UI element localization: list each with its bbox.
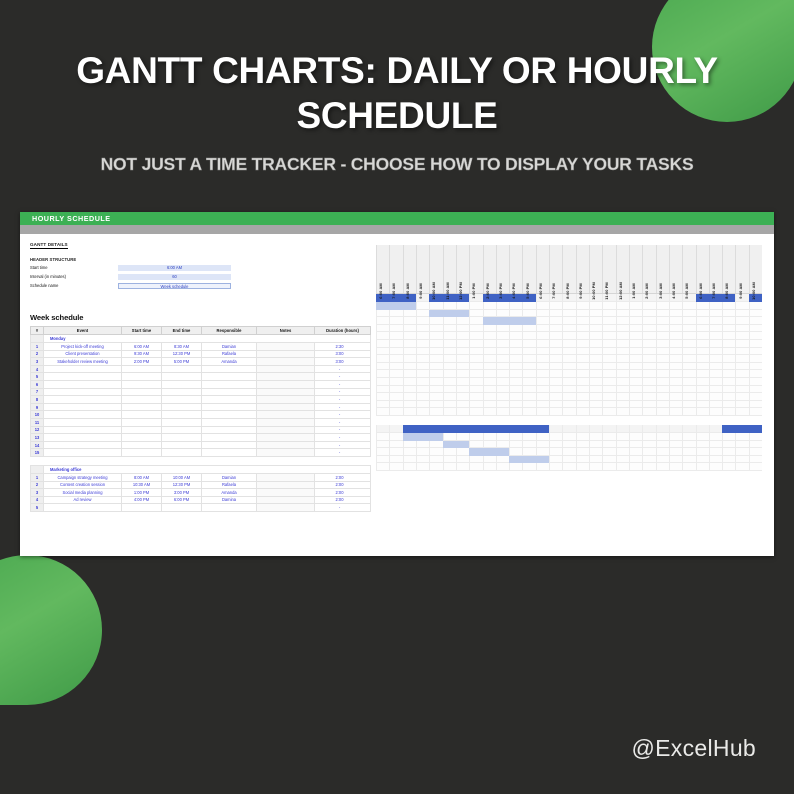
gantt-grid-cell (696, 302, 709, 310)
field-interval-input[interactable]: 60 (118, 274, 231, 281)
gantt-bar-segment (389, 425, 402, 433)
cell-start[interactable]: 8:00 AM (122, 473, 162, 481)
cell-start[interactable] (122, 388, 162, 396)
gantt-grid-cell (416, 310, 429, 318)
cell-notes[interactable] (257, 388, 315, 396)
cell-responsible[interactable]: Amanda (202, 358, 257, 366)
cell-duration[interactable]: 2:00 (315, 481, 371, 489)
cell-end[interactable] (162, 426, 202, 434)
gantt-grid-cell (456, 456, 469, 464)
gantt-grid-cell (509, 378, 522, 386)
cell-notes[interactable] (257, 481, 315, 489)
gantt-grid-cell (469, 302, 482, 310)
gantt-grid-cell (669, 302, 682, 310)
gantt-grid-cell (389, 401, 402, 409)
table-row[interactable]: 12- (31, 426, 371, 434)
group-row-label[interactable]: Marketing office (44, 465, 371, 473)
gantt-grid-cell (589, 401, 602, 409)
cell-notes[interactable] (257, 358, 315, 366)
gantt-grid-cell (403, 386, 416, 394)
field-schedule-name-input[interactable]: Week schedule (118, 283, 231, 290)
cell-duration[interactable]: - (315, 418, 371, 426)
gantt-grid-cell (376, 355, 389, 363)
table-row[interactable]: 1Project kick-off meeting6:00 AM8:30 AMD… (31, 343, 371, 351)
cell-num[interactable]: 14 (31, 441, 44, 449)
cell-notes[interactable] (257, 504, 315, 512)
gantt-grid-cell (522, 393, 535, 401)
gantt-grid-cell (602, 456, 615, 464)
cell-end[interactable] (162, 380, 202, 388)
gantt-grid-cell (682, 340, 695, 348)
cell-duration[interactable]: - (315, 388, 371, 396)
cell-duration[interactable]: - (315, 504, 371, 512)
cell-notes[interactable] (257, 449, 315, 457)
cell-event[interactable] (44, 441, 122, 449)
cell-start[interactable] (122, 365, 162, 373)
cell-event[interactable] (44, 434, 122, 442)
gantt-grid-cell (749, 340, 762, 348)
cell-end[interactable] (162, 373, 202, 381)
cell-duration[interactable]: 2:00 (315, 489, 371, 497)
gantt-grid-cell (696, 340, 709, 348)
gantt-grid-cell (656, 386, 669, 394)
gantt-axis-tick-label: 9:00 PM (578, 283, 583, 298)
gantt-grid-cell (576, 448, 589, 456)
col-header-duration[interactable]: Duration (hours) (315, 327, 371, 335)
gantt-grid-cell (496, 378, 509, 386)
gantt-grid-cell (576, 408, 589, 416)
col-header-num[interactable]: # (31, 327, 44, 335)
cell-event[interactable] (44, 388, 122, 396)
gantt-grid-cell (602, 448, 615, 456)
cell-duration[interactable]: - (315, 426, 371, 434)
cell-end[interactable]: 12:30 PM (162, 350, 202, 358)
gantt-grid-cell (522, 416, 535, 425)
gantt-grid-cell (443, 433, 456, 441)
gantt-grid-cell (376, 363, 389, 371)
gantt-grid-cell (376, 332, 389, 340)
gantt-grid-cell (642, 302, 655, 310)
cell-event[interactable] (44, 365, 122, 373)
cell-event[interactable]: Client presentation (44, 350, 122, 358)
cell-num[interactable]: 5 (31, 373, 44, 381)
table-row[interactable]: 6- (31, 380, 371, 388)
cell-responsible[interactable] (202, 380, 257, 388)
gantt-grid-cell (709, 433, 722, 441)
cell-responsible[interactable] (202, 403, 257, 411)
cell-duration[interactable]: 2:00 (315, 473, 371, 481)
gantt-grid-cell (642, 340, 655, 348)
gantt-grid-cell (549, 340, 562, 348)
gantt-grid-cell (496, 393, 509, 401)
cell-num[interactable]: 1 (31, 473, 44, 481)
cell-num[interactable]: 1 (31, 343, 44, 351)
cell-end[interactable] (162, 441, 202, 449)
gantt-grid-cell (656, 310, 669, 318)
cell-responsible[interactable] (202, 426, 257, 434)
gantt-grid-cell (416, 463, 429, 471)
gantt-grid-cell (376, 340, 389, 348)
gantt-axis-tick-label: 6:00 AM (378, 283, 383, 298)
cell-duration[interactable]: 2:30 (315, 343, 371, 351)
gantt-grid-cell (416, 456, 429, 464)
group-row-label[interactable]: Monday (44, 335, 371, 343)
cell-event[interactable] (44, 380, 122, 388)
table-row[interactable]: 9- (31, 403, 371, 411)
gantt-grid-cell (669, 441, 682, 449)
gantt-grid-cell (735, 386, 748, 394)
cell-event[interactable]: Project kick-off meeting (44, 343, 122, 351)
cell-event[interactable]: Campaign strategy meeting (44, 473, 122, 481)
cell-num[interactable]: 11 (31, 418, 44, 426)
table-title: Week schedule (30, 313, 372, 322)
cell-notes[interactable] (257, 396, 315, 404)
gantt-grid-cell (389, 325, 402, 333)
gantt-grid-cell (749, 456, 762, 464)
cell-end[interactable] (162, 449, 202, 457)
gantt-task-row (376, 302, 762, 310)
cell-duration[interactable]: 3:00 (315, 350, 371, 358)
cell-num[interactable]: 4 (31, 496, 44, 504)
gantt-grid-cell (709, 325, 722, 333)
cell-duration[interactable]: - (315, 411, 371, 419)
gantt-grid-cell (656, 456, 669, 464)
table-row[interactable]: 11- (31, 418, 371, 426)
gantt-grid-cell (576, 302, 589, 310)
gantt-grid-cell (536, 317, 549, 325)
gantt-grid-cell (576, 386, 589, 394)
gantt-grid-cell (696, 386, 709, 394)
gantt-grid-cell (469, 408, 482, 416)
gantt-grid-cell (696, 393, 709, 401)
cell-notes[interactable] (257, 343, 315, 351)
cell-end[interactable] (162, 388, 202, 396)
cell-num[interactable]: 13 (31, 434, 44, 442)
cell-responsible[interactable] (202, 449, 257, 457)
gantt-bar-segment (496, 425, 509, 433)
cell-responsible[interactable]: Rafaela (202, 481, 257, 489)
gantt-task-row (376, 378, 762, 386)
gantt-axis-tick-label: 3:00 AM (658, 283, 663, 298)
col-header-start[interactable]: Start time (122, 327, 162, 335)
cell-responsible[interactable] (202, 418, 257, 426)
cell-num[interactable]: 8 (31, 396, 44, 404)
cell-duration[interactable]: - (315, 365, 371, 373)
gantt-grid-cell (709, 348, 722, 356)
col-header-responsible[interactable]: Responsible (202, 327, 257, 335)
gantt-grid-cell (562, 448, 575, 456)
cell-num[interactable]: 2 (31, 350, 44, 358)
cell-notes[interactable] (257, 365, 315, 373)
gantt-grid-cell (602, 386, 615, 394)
cell-num[interactable]: 7 (31, 388, 44, 396)
cell-responsible[interactable]: Damian (202, 343, 257, 351)
cell-num[interactable]: 12 (31, 426, 44, 434)
table-row[interactable]: 7- (31, 388, 371, 396)
cell-end[interactable] (162, 396, 202, 404)
cell-notes[interactable] (257, 496, 315, 504)
gantt-grid-cell (576, 310, 589, 318)
cell-start[interactable] (122, 441, 162, 449)
gantt-axis-tick: 5:00 PM (522, 245, 535, 293)
gantt-grid-cell (589, 386, 602, 394)
gantt-grid-cell (616, 408, 629, 416)
cell-event[interactable] (44, 411, 122, 419)
table-row[interactable]: 3Stakeholder review meeting2:00 PM5:00 P… (31, 358, 371, 366)
cell-start[interactable] (122, 426, 162, 434)
col-header-event[interactable]: Event (44, 327, 122, 335)
cell-num[interactable]: 9 (31, 403, 44, 411)
cell-event[interactable] (44, 396, 122, 404)
gantt-grid-cell (456, 408, 469, 416)
gantt-grid-cell (509, 386, 522, 394)
gantt-bar-rows (376, 294, 762, 471)
field-schedule-name: Schedule name Week schedule (30, 283, 372, 290)
cell-num[interactable]: 15 (31, 449, 44, 457)
gantt-time-axis: 6:00 AM7:00 AM8:00 AM9:00 AM10:00 AM11:0… (376, 234, 762, 294)
cell-responsible[interactable] (202, 434, 257, 442)
cell-start[interactable] (122, 396, 162, 404)
cell-num[interactable]: 6 (31, 380, 44, 388)
gantt-grid-cell (722, 363, 735, 371)
gantt-grid-cell (389, 363, 402, 371)
gantt-grid-cell (483, 433, 496, 441)
gantt-grid-cell (669, 448, 682, 456)
gantt-grid-cell (629, 463, 642, 471)
table-row[interactable]: 8- (31, 396, 371, 404)
gantt-grid-cell (549, 370, 562, 378)
col-header-notes[interactable]: Notes (257, 327, 315, 335)
cell-duration[interactable]: 2:00 (315, 496, 371, 504)
gantt-grid-cell (656, 317, 669, 325)
cell-duration[interactable]: - (315, 441, 371, 449)
gantt-grid-cell (562, 456, 575, 464)
cell-duration[interactable]: - (315, 396, 371, 404)
col-header-end[interactable]: End time (162, 327, 202, 335)
cell-start[interactable]: 4:00 PM (122, 496, 162, 504)
cell-end[interactable] (162, 504, 202, 512)
cell-duration[interactable]: - (315, 434, 371, 442)
cell-notes[interactable] (257, 350, 315, 358)
gantt-axis-tick-label: 4:00 PM (511, 283, 516, 298)
gantt-grid-cell (682, 441, 695, 449)
cell-event[interactable]: Content creation session (44, 481, 122, 489)
cell-responsible[interactable] (202, 373, 257, 381)
gantt-grid-cell (735, 332, 748, 340)
cell-end[interactable] (162, 418, 202, 426)
gantt-grid-cell (669, 393, 682, 401)
gantt-grid-cell (376, 370, 389, 378)
cell-duration[interactable]: - (315, 380, 371, 388)
table-row[interactable]: 10- (31, 411, 371, 419)
gantt-task-row (376, 310, 762, 318)
cell-notes[interactable] (257, 380, 315, 388)
gantt-grid-cell (429, 317, 442, 325)
gantt-bar-segment (429, 433, 442, 441)
cell-start[interactable]: 9:30 AM (122, 350, 162, 358)
cell-notes[interactable] (257, 373, 315, 381)
cell-start[interactable] (122, 434, 162, 442)
table-row[interactable]: 5- (31, 504, 371, 512)
gantt-grid-cell (589, 355, 602, 363)
gantt-bar-segment (522, 425, 535, 433)
cell-start[interactable] (122, 380, 162, 388)
cell-end[interactable] (162, 365, 202, 373)
cell-num[interactable]: 3 (31, 358, 44, 366)
gantt-grid-cell (669, 348, 682, 356)
gantt-grid-cell (522, 325, 535, 333)
gantt-grid-cell (749, 448, 762, 456)
cell-responsible[interactable] (202, 441, 257, 449)
table-row[interactable]: 4Ad review4:00 PM6:00 PMDamina2:00 (31, 496, 371, 504)
cell-responsible[interactable] (202, 396, 257, 404)
cell-end[interactable] (162, 403, 202, 411)
gantt-grid-cell (576, 355, 589, 363)
cell-event[interactable] (44, 449, 122, 457)
gantt-bar-segment (522, 317, 535, 325)
table-row[interactable]: 3Social media planning1:00 PM3:00 PMAman… (31, 489, 371, 497)
cell-responsible[interactable] (202, 388, 257, 396)
field-start-time-input[interactable]: 6:00 AM (118, 265, 231, 272)
gantt-grid-cell (669, 386, 682, 394)
table-row[interactable]: 5- (31, 373, 371, 381)
gantt-grid-cell (562, 433, 575, 441)
table-row[interactable]: 2Client presentation9:30 AM12:30 PMRafae… (31, 350, 371, 358)
gantt-axis-tick-label: 12:00 PM (458, 282, 463, 300)
gantt-grid-cell (669, 433, 682, 441)
cell-notes[interactable] (257, 418, 315, 426)
cell-start[interactable] (122, 411, 162, 419)
cell-end[interactable]: 3:00 PM (162, 489, 202, 497)
cell-event[interactable] (44, 426, 122, 434)
gantt-grid-cell (669, 378, 682, 386)
gantt-grid-cell (403, 401, 416, 409)
gantt-grid-cell (616, 456, 629, 464)
cell-end[interactable]: 5:00 PM (162, 358, 202, 366)
gantt-grid-cell (669, 416, 682, 425)
cell-notes[interactable] (257, 473, 315, 481)
cell-event[interactable]: Ad review (44, 496, 122, 504)
cell-end[interactable]: 10:00 AM (162, 473, 202, 481)
gantt-grid-cell (749, 401, 762, 409)
table-row[interactable]: 15- (31, 449, 371, 457)
gantt-grid-cell (749, 441, 762, 449)
gantt-grid-cell (403, 416, 416, 425)
cell-start[interactable] (122, 373, 162, 381)
cell-duration[interactable]: - (315, 373, 371, 381)
cell-start[interactable] (122, 504, 162, 512)
cell-event[interactable] (44, 418, 122, 426)
gantt-grid-cell (403, 408, 416, 416)
gantt-grid-cell (629, 310, 642, 318)
cell-start[interactable] (122, 403, 162, 411)
gantt-grid-cell (616, 355, 629, 363)
cell-duration[interactable]: - (315, 403, 371, 411)
gantt-grid-cell (589, 363, 602, 371)
cell-notes[interactable] (257, 489, 315, 497)
cell-start[interactable]: 6:00 AM (122, 343, 162, 351)
cell-start[interactable]: 1:00 PM (122, 489, 162, 497)
cell-end[interactable]: 8:30 AM (162, 343, 202, 351)
gantt-bar-segment (536, 425, 549, 433)
cell-num[interactable]: 4 (31, 365, 44, 373)
gantt-task-row (376, 370, 762, 378)
cell-start[interactable] (122, 449, 162, 457)
gantt-grid-cell (469, 378, 482, 386)
cell-num[interactable]: 3 (31, 489, 44, 497)
gantt-grid-cell (722, 355, 735, 363)
cell-responsible[interactable] (202, 504, 257, 512)
cell-duration[interactable]: 3:00 (315, 358, 371, 366)
gantt-grid-cell (536, 416, 549, 425)
cell-event[interactable] (44, 373, 122, 381)
cell-end[interactable] (162, 434, 202, 442)
cell-responsible[interactable]: Rafaela (202, 350, 257, 358)
cell-end[interactable] (162, 411, 202, 419)
cell-notes[interactable] (257, 403, 315, 411)
cell-num[interactable]: 2 (31, 481, 44, 489)
cell-num[interactable]: 5 (31, 504, 44, 512)
cell-end[interactable]: 12:30 PM (162, 481, 202, 489)
cell-start[interactable]: 10:30 AM (122, 481, 162, 489)
table-row[interactable]: 2Content creation session10:30 AM12:30 P… (31, 481, 371, 489)
gantt-grid-cell (483, 355, 496, 363)
cell-event[interactable] (44, 403, 122, 411)
table-row[interactable]: 14- (31, 441, 371, 449)
cell-responsible[interactable] (202, 365, 257, 373)
table-row[interactable]: 4- (31, 365, 371, 373)
gantt-grid-cell (509, 363, 522, 371)
cell-responsible[interactable]: Damian (202, 473, 257, 481)
cell-event[interactable] (44, 504, 122, 512)
gantt-grid-cell (389, 332, 402, 340)
cell-responsible[interactable]: Damina (202, 496, 257, 504)
cell-event[interactable]: Social media planning (44, 489, 122, 497)
cell-start[interactable]: 2:00 PM (122, 358, 162, 366)
cell-responsible[interactable] (202, 411, 257, 419)
gantt-grid-cell (669, 325, 682, 333)
gantt-grid-cell (642, 393, 655, 401)
cell-num[interactable]: 10 (31, 411, 44, 419)
gantt-grid-cell (616, 386, 629, 394)
gantt-grid-cell (642, 317, 655, 325)
cell-notes[interactable] (257, 411, 315, 419)
table-row[interactable]: 13- (31, 434, 371, 442)
gantt-grid-cell (376, 408, 389, 416)
page-title: GANTT CHARTS: DAILY OR HOURLY SCHEDULE (0, 48, 794, 138)
spreadsheet-window[interactable]: HOURLY SCHEDULE GANTT DETAILS HEADER STR… (20, 212, 774, 556)
cell-responsible[interactable]: Amanda (202, 489, 257, 497)
gantt-grid-cell (682, 348, 695, 356)
gantt-axis-tick-label: 8:00 PM (565, 283, 570, 298)
cell-notes[interactable] (257, 434, 315, 442)
cell-end[interactable]: 6:00 PM (162, 496, 202, 504)
cell-event[interactable]: Stakeholder review meeting (44, 358, 122, 366)
cell-duration[interactable]: - (315, 449, 371, 457)
gantt-grid-cell (483, 302, 496, 310)
gantt-grid-cell (509, 355, 522, 363)
cell-notes[interactable] (257, 441, 315, 449)
cell-start[interactable] (122, 418, 162, 426)
gantt-grid-cell (696, 310, 709, 318)
gantt-axis-tick: 10:00 AM (429, 245, 442, 293)
gantt-grid-cell (709, 456, 722, 464)
gantt-axis-tick-label: 4:00 AM (671, 283, 676, 298)
cell-notes[interactable] (257, 426, 315, 434)
table-row[interactable]: 1Campaign strategy meeting8:00 AM10:00 A… (31, 473, 371, 481)
gantt-axis-tick: 9:00 AM (416, 245, 429, 293)
gantt-grid-cell (735, 302, 748, 310)
